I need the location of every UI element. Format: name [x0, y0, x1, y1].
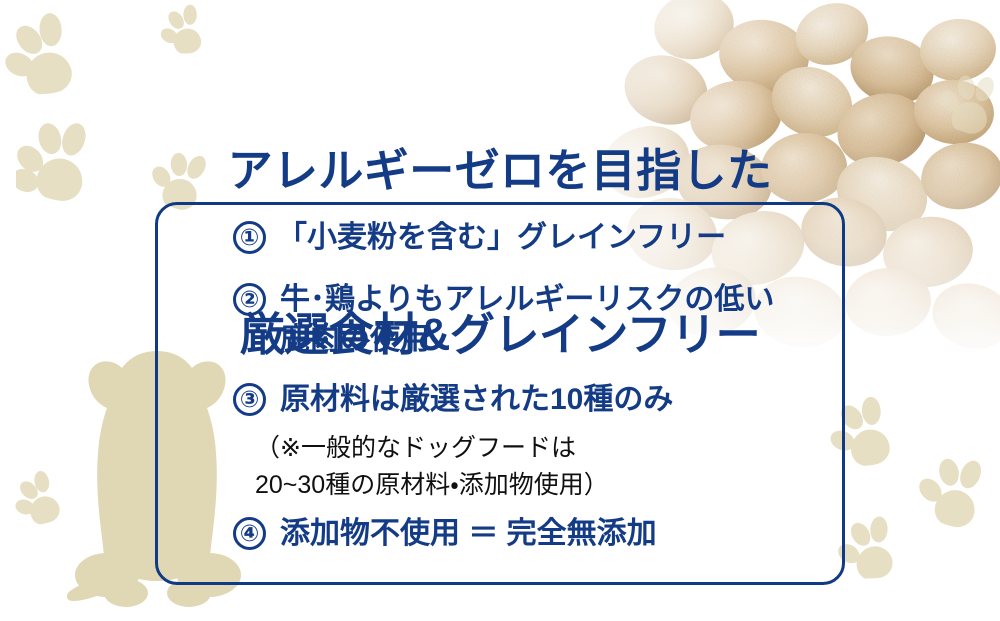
list-item-number: ④ [233, 517, 266, 550]
list-item-label: 牛･鶏よりもアレルギーリスクの低い 鹿肉の使用 [280, 280, 774, 359]
list-item-label: 原材料は厳選された10種のみ [280, 380, 673, 420]
list-item: ④ 添加物不使用 ＝ 完全無添加 [233, 514, 657, 554]
paw-print-icon [14, 470, 74, 530]
list-item: ③ 原材料は厳選された10種のみ [233, 380, 673, 420]
list-item-label: 添加物不使用 ＝ 完全無添加 [280, 514, 657, 554]
feature-list: ① 「小麦粉を含む」グレインフリー ② 牛･鶏よりもアレルギーリスクの低い 鹿肉… [155, 202, 845, 585]
infographic-panel: アレルギーゼロを目指した 厳選食材&グレインフリー ① 「小麦粉を含む」グレイン… [0, 0, 1000, 621]
list-item-label: 「小麦粉を含む」グレインフリー [277, 218, 726, 258]
list-item-note: （※一般的なドッグフードは 20~30種の原材料・添加物使用） [255, 430, 609, 503]
list-item: ② 牛･鶏よりもアレルギーリスクの低い 鹿肉の使用 [233, 280, 774, 359]
list-item-number: ② [233, 283, 266, 316]
page-title-line-1: アレルギーゼロを目指した [0, 144, 1000, 199]
list-item: ① 「小麦粉を含む」グレインフリー [233, 218, 726, 258]
list-item-number: ① [233, 221, 266, 254]
list-item-number: ③ [233, 383, 266, 416]
paw-print-icon [838, 515, 910, 587]
